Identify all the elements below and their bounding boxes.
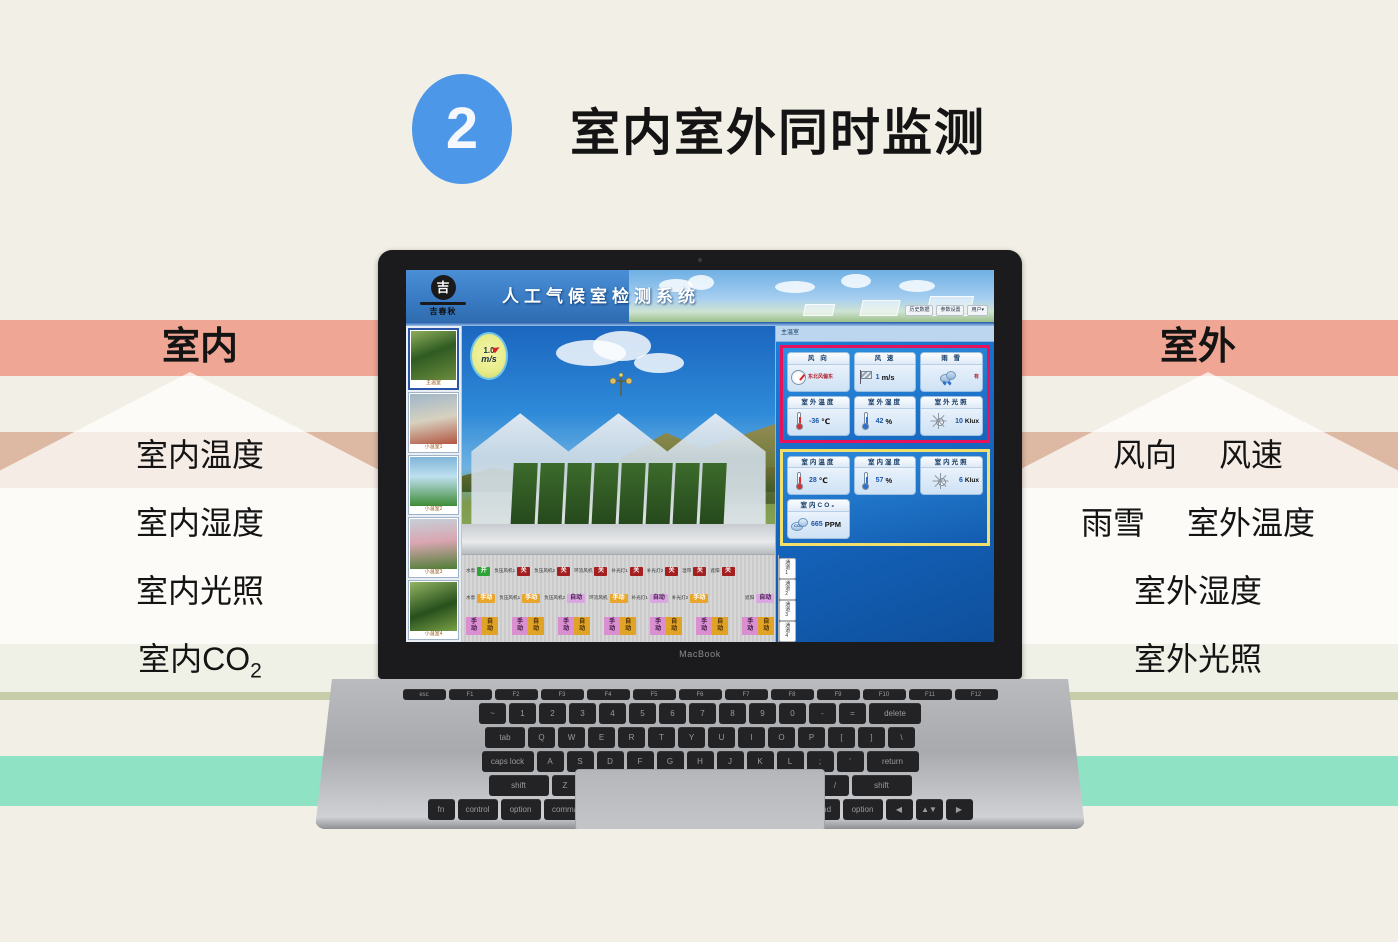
- key-e[interactable]: E: [588, 727, 615, 748]
- key-f4[interactable]: F4: [587, 689, 630, 700]
- key-option[interactable]: option: [843, 799, 883, 820]
- manual-option[interactable]: 手动: [696, 617, 712, 635]
- card-wind-speed[interactable]: 风 速 1 m/s: [854, 352, 917, 392]
- control-label: 负压风机1: [494, 569, 515, 574]
- key-f3[interactable]: F3: [541, 689, 584, 700]
- key--[interactable]: ▲▼: [916, 799, 943, 820]
- outdoor-item-label: 室外湿度: [1134, 573, 1262, 609]
- control-label: 补光灯1: [632, 596, 648, 601]
- manual-option[interactable]: 手动: [558, 617, 574, 635]
- manual-option[interactable]: 手动: [650, 617, 666, 635]
- greenhouse-scene-illustration: 1.0 m/s: [462, 326, 775, 554]
- card-title: 室内光照: [921, 457, 982, 469]
- key--[interactable]: ': [837, 751, 864, 772]
- key-f5[interactable]: F5: [633, 689, 676, 700]
- weather-vane-icon: [606, 372, 636, 398]
- control-exhaust-fan-2[interactable]: 负压风机2 关: [534, 567, 570, 576]
- control-label: 水泵: [466, 569, 475, 574]
- auto-option[interactable]: 自动: [482, 617, 498, 635]
- key--[interactable]: [: [828, 727, 855, 748]
- control-label: 环流风机: [574, 569, 592, 574]
- indoor-item-label: 室内CO: [138, 641, 250, 677]
- mode-chip[interactable]: 手动: [522, 594, 540, 603]
- mode-exhaust-fan-2[interactable]: 负压风机2 自动: [544, 594, 585, 603]
- auto-option[interactable]: 自动: [758, 617, 774, 635]
- manual-option[interactable]: 手动: [466, 617, 482, 635]
- control-shading[interactable]: 遮阳 关: [710, 567, 734, 576]
- auto-option[interactable]: 自动: [666, 617, 682, 635]
- thumbnail-label: 小温室2: [410, 506, 457, 513]
- logo-brand-name: 吉春秋: [416, 306, 470, 317]
- mode-grow-light-1[interactable]: 补光灯1 自动: [632, 594, 668, 603]
- outdoor-item-light: 室外光照: [998, 634, 1398, 680]
- mode-chip[interactable]: 手动: [610, 594, 628, 603]
- mode-chip[interactable]: 手动: [477, 594, 495, 603]
- card-indoor-humidity[interactable]: 室内湿度 57 %: [854, 456, 917, 496]
- key-f10[interactable]: F10: [863, 689, 906, 700]
- outdoor-sensor-group: 风 向 东北风偏东 风 速: [780, 345, 990, 443]
- card-title: 室外湿度: [855, 397, 916, 409]
- card-value: 6: [959, 477, 963, 484]
- indoor-item-label: 室内温度: [136, 437, 264, 473]
- card-value: 57: [876, 477, 884, 484]
- control-state-chip[interactable]: 关: [594, 567, 607, 576]
- channel-buttons: 通道1 通道2 通道3 通道4: [778, 555, 796, 642]
- key-delete[interactable]: delete: [869, 703, 921, 724]
- manual-auto-toggle[interactable]: 手动 自动: [558, 617, 590, 635]
- control-rows: 水泵 开 负压风机1 关 负压风机2 关: [462, 555, 778, 642]
- card-indoor-light[interactable]: 室内光照 6 Klux: [920, 456, 983, 496]
- indoor-item-label: 室内光照: [136, 573, 264, 609]
- control-label: 湿帘: [682, 569, 691, 574]
- card-outdoor-temperature[interactable]: 室外温度 -36 ℃: [787, 396, 850, 436]
- channel-4-button[interactable]: 通道4: [779, 621, 796, 642]
- co2-cloud-icon: CO₂: [791, 518, 809, 531]
- logo-seal-icon: 吉: [431, 275, 456, 300]
- manual-option[interactable]: 手动: [742, 617, 758, 635]
- indoor-item-co2-subscript: 2: [250, 659, 262, 682]
- key-f8[interactable]: F8: [771, 689, 814, 700]
- channel-1-button[interactable]: 通道1: [779, 558, 796, 579]
- card-title: 室内湿度: [855, 457, 916, 469]
- nav-history-data-button[interactable]: 历史数据: [905, 305, 933, 317]
- control-row-pairs: 手动 自动 手动 自动 手动 自动: [466, 615, 774, 637]
- key-9[interactable]: 9: [749, 703, 776, 724]
- manual-auto-toggle[interactable]: 手动 自动: [466, 617, 498, 635]
- card-title: 室内CO₂: [788, 500, 849, 512]
- control-label: 水泵: [466, 596, 475, 601]
- center-column: 1.0 m/s 水泵 开: [462, 326, 776, 642]
- auto-option[interactable]: 自动: [620, 617, 636, 635]
- card-unit: PPM: [825, 520, 841, 529]
- indoor-heading: 室内: [0, 318, 400, 376]
- indoor-item-light: 室内光照: [0, 566, 400, 612]
- key-option[interactable]: option: [501, 799, 541, 820]
- key-return[interactable]: return: [867, 751, 919, 772]
- key--[interactable]: -: [809, 703, 836, 724]
- key-2[interactable]: 2: [539, 703, 566, 724]
- mode-chip[interactable]: 自动: [756, 594, 774, 603]
- card-title: 室外光照: [921, 397, 982, 409]
- key-w[interactable]: W: [558, 727, 585, 748]
- key-fn[interactable]: fn: [428, 799, 455, 820]
- key--[interactable]: =: [839, 703, 866, 724]
- nav-settings-button[interactable]: 参数设置: [936, 305, 964, 317]
- mode-exhaust-fan-1[interactable]: 负压风机1 手动: [499, 594, 540, 603]
- manual-option[interactable]: 手动: [604, 617, 620, 635]
- card-indoor-temperature[interactable]: 室内温度 28 ℃: [787, 456, 850, 496]
- compass-needle-icon: [492, 345, 501, 354]
- greenhouse-thumbnail-sidebar: 主温室 小温室1 小温室2 小温室3: [406, 326, 462, 642]
- card-value: 1: [876, 374, 880, 381]
- card-wind-direction[interactable]: 风 向 东北风偏东: [787, 352, 850, 392]
- manual-option[interactable]: 手动: [512, 617, 528, 635]
- control-row-mode: 水泵 手动 负压风机1 手动 负压风机2 自动: [466, 587, 774, 609]
- auto-option[interactable]: 自动: [574, 617, 590, 635]
- logo-divider: [420, 302, 466, 305]
- control-pump[interactable]: 水泵 开: [466, 567, 490, 576]
- mode-circulation-fan[interactable]: 环流风机 手动: [589, 594, 627, 603]
- page-title: 室内室外同时监测: [570, 93, 986, 165]
- control-label: 负压风机1: [499, 596, 520, 601]
- key-esc[interactable]: esc: [403, 689, 446, 700]
- outdoor-item-wind-speed: 风速: [1219, 430, 1283, 476]
- indoor-item-temperature: 室内温度: [0, 430, 400, 476]
- key--[interactable]: \: [888, 727, 915, 748]
- control-grow-light-2[interactable]: 补光灯2 关: [647, 567, 678, 576]
- keyboard-row-q: tabQWERTYUIOP[]\: [374, 727, 1026, 748]
- card-value: 665: [811, 521, 823, 528]
- key-t[interactable]: T: [648, 727, 675, 748]
- mode-grow-light-2[interactable]: 补光灯2 手动: [672, 594, 708, 603]
- outdoor-column: 室外 风向 风速 雨雪 室外温度 室外湿度 室外光照: [998, 318, 1398, 702]
- thermometer-blue-icon: [858, 472, 874, 490]
- key-f1[interactable]: F1: [449, 689, 492, 700]
- wind-compass-widget: 1.0 m/s: [470, 332, 508, 380]
- card-unit: %: [885, 417, 892, 426]
- sidebar-item-greenhouse-1[interactable]: 小温室1: [408, 392, 459, 452]
- key-u[interactable]: U: [708, 727, 735, 748]
- control-grow-light-1[interactable]: 补光灯1 关: [611, 567, 642, 576]
- control-state-chip[interactable]: 关: [722, 567, 735, 576]
- channel-2-button[interactable]: 通道2: [779, 579, 796, 600]
- card-value: 28: [809, 477, 817, 484]
- control-state-chip[interactable]: 关: [517, 567, 530, 576]
- auto-option[interactable]: 自动: [528, 617, 544, 635]
- key--[interactable]: ~: [479, 703, 506, 724]
- control-state-chip[interactable]: 关: [693, 567, 706, 576]
- greenhouse-thumbnail-image: [410, 582, 457, 631]
- card-unit: Klux: [965, 477, 979, 484]
- macbook-brand-label: MacBook: [396, 649, 1004, 659]
- keyboard-row-function: escF1F2F3F4F5F6F7F8F9F10F11F12: [374, 689, 1026, 700]
- control-label: 遮阳: [710, 569, 719, 574]
- mode-pump[interactable]: 水泵 手动: [466, 594, 495, 603]
- app-header: 吉 吉春秋 人工气候室检测系统 历史数据 参数设置 用户▾: [406, 270, 994, 322]
- app-logo: 吉 吉春秋: [416, 275, 470, 317]
- greenhouse-floor: [462, 524, 775, 554]
- indoor-item-humidity: 室内湿度: [0, 498, 400, 544]
- step-number: 2: [446, 100, 478, 158]
- key--[interactable]: /: [822, 775, 849, 796]
- thermometer-red-icon: [791, 472, 807, 490]
- page-header: 2 室内室外同时监测: [0, 64, 1398, 194]
- card-outdoor-light[interactable]: 室外光照 10 Klux: [920, 396, 983, 436]
- mode-chip[interactable]: 自动: [650, 594, 668, 603]
- rain-cloud-icon: [940, 371, 957, 384]
- control-label: 遮阳: [745, 596, 754, 601]
- key--[interactable]: ◀: [886, 799, 913, 820]
- laptop-mockup: 吉 吉春秋 人工气候室检测系统 历史数据 参数设置 用户▾: [315, 250, 1085, 829]
- thumbnail-label: 主温室: [411, 380, 456, 387]
- greenhouse-thumbnail-image: [410, 457, 457, 506]
- thumbnail-label: 小温室4: [410, 631, 457, 638]
- key--[interactable]: ]: [858, 727, 885, 748]
- sidebar-item-main-greenhouse[interactable]: 主温室: [408, 328, 459, 390]
- app-title: 人工气候室检测系统: [502, 282, 700, 307]
- manual-auto-toggle[interactable]: 手动 自动: [512, 617, 544, 635]
- card-text: 有: [974, 374, 979, 380]
- sidebar-item-greenhouse-2[interactable]: 小温室2: [408, 455, 459, 515]
- auto-option[interactable]: 自动: [712, 617, 728, 635]
- card-outdoor-humidity[interactable]: 室外湿度 42 %: [854, 396, 917, 436]
- thumbnail-label: 小温室3: [410, 569, 457, 576]
- app-nav-buttons: 历史数据 参数设置 用户▾: [905, 305, 988, 317]
- key-f2[interactable]: F2: [495, 689, 538, 700]
- outdoor-item-rain-snow: 雨雪: [1081, 498, 1145, 544]
- card-unit: ℃: [821, 417, 830, 426]
- outdoor-item-wind-direction: 风向: [1113, 430, 1177, 476]
- key-f11[interactable]: F11: [909, 689, 952, 700]
- control-label: 负压风机2: [534, 569, 555, 574]
- key-f9[interactable]: F9: [817, 689, 860, 700]
- key-caps-lock[interactable]: caps lock: [482, 751, 534, 772]
- thermometer-blue-icon: [858, 412, 874, 430]
- key-1[interactable]: 1: [509, 703, 536, 724]
- nav-user-menu-button[interactable]: 用户▾: [967, 305, 988, 317]
- key-3[interactable]: 3: [569, 703, 596, 724]
- manual-auto-toggle[interactable]: 手动 自动: [604, 617, 636, 635]
- compass-unit: m/s: [481, 355, 497, 365]
- control-state-chip[interactable]: 关: [665, 567, 678, 576]
- outdoor-row-wind: 风向 风速: [998, 430, 1398, 476]
- app-body: 主温室 小温室1 小温室2 小温室3: [406, 326, 994, 642]
- card-unit: %: [885, 476, 892, 485]
- greenhouse-thumbnail-image: [411, 331, 456, 380]
- card-title: 风 速: [855, 353, 916, 365]
- control-label: 负压风机2: [544, 596, 565, 601]
- key-f12[interactable]: F12: [955, 689, 998, 700]
- thermometer-red-icon: [791, 412, 807, 430]
- trackpad[interactable]: [575, 769, 825, 831]
- sidebar-item-greenhouse-4[interactable]: 小温室4: [408, 580, 459, 640]
- keyboard-row-numbers: ~1234567890-=delete: [374, 703, 1026, 724]
- key-tab[interactable]: tab: [485, 727, 525, 748]
- card-value: 42: [876, 418, 884, 425]
- control-exhaust-fan-1[interactable]: 负压风机1 关: [494, 567, 530, 576]
- key-4[interactable]: 4: [599, 703, 626, 724]
- control-state-chip[interactable]: 开: [477, 567, 490, 576]
- step-badge: 2: [412, 74, 512, 184]
- device-control-panel: 水泵 开 负压风机1 关 负压风机2 关: [462, 554, 775, 642]
- sidebar-item-greenhouse-3[interactable]: 小温室3: [408, 517, 459, 577]
- key--[interactable]: ▶: [946, 799, 973, 820]
- card-text: 东北风偏东: [808, 374, 833, 380]
- crop-beds: [512, 463, 725, 531]
- greenhouse-silhouette: [860, 300, 901, 316]
- control-label: 补光灯2: [672, 596, 688, 601]
- control-label: 补光灯2: [647, 569, 663, 574]
- indoor-column: 室内 室内温度 室内湿度 室内光照 室内CO2: [0, 318, 400, 705]
- mode-chip[interactable]: 自动: [567, 594, 585, 603]
- key-y[interactable]: Y: [678, 727, 705, 748]
- key-6[interactable]: 6: [659, 703, 686, 724]
- indoor-item-label: 室内湿度: [136, 505, 264, 541]
- card-unit: m/s: [882, 373, 895, 382]
- control-state-chip[interactable]: 关: [557, 567, 570, 576]
- laptop-base: escF1F2F3F4F5F6F7F8F9F10F11F12 ~12345678…: [315, 679, 1085, 829]
- key-f7[interactable]: F7: [725, 689, 768, 700]
- outdoor-list: 风向 风速 雨雪 室外温度 室外湿度 室外光照: [998, 430, 1398, 680]
- mode-shading[interactable]: 遮阳 自动: [745, 594, 774, 603]
- greenhouse-thumbnail-image: [410, 519, 457, 568]
- card-title: 风 向: [788, 353, 849, 365]
- key-a[interactable]: A: [537, 751, 564, 772]
- outdoor-item-humidity: 室外湿度: [998, 566, 1398, 612]
- key-control[interactable]: control: [458, 799, 498, 820]
- indoor-item-co2: 室内CO2: [0, 634, 400, 683]
- control-circulation-fan[interactable]: 环流风机 关: [574, 567, 607, 576]
- card-rain-snow[interactable]: 雨 雪 有: [920, 352, 983, 392]
- sun-icon: [933, 473, 949, 489]
- key-7[interactable]: 7: [689, 703, 716, 724]
- greenhouse-silhouette: [802, 304, 835, 316]
- card-indoor-co2[interactable]: 室内CO₂ CO₂ 665 PPM: [787, 499, 850, 539]
- control-label: 补光灯1: [611, 569, 627, 574]
- manual-auto-toggle[interactable]: 手动 自动: [742, 617, 774, 635]
- panel-header-label: 主温室: [776, 326, 994, 342]
- card-title: 雨 雪: [921, 353, 982, 365]
- key-5[interactable]: 5: [629, 703, 656, 724]
- control-wet-curtain[interactable]: 湿帘 关: [682, 567, 706, 576]
- key-i[interactable]: I: [738, 727, 765, 748]
- laptop-screen: 吉 吉春秋 人工气候室检测系统 历史数据 参数设置 用户▾: [406, 270, 994, 642]
- laptop-lid: 吉 吉春秋 人工气候室检测系统 历史数据 参数设置 用户▾: [378, 250, 1022, 679]
- card-unit: Klux: [965, 418, 979, 425]
- indoor-group-spacer: [854, 499, 983, 539]
- mode-chip[interactable]: 手动: [690, 594, 708, 603]
- control-state-chip[interactable]: 关: [630, 567, 643, 576]
- key-q[interactable]: Q: [528, 727, 555, 748]
- outdoor-item-label: 室外光照: [1134, 641, 1262, 677]
- thumbnail-label: 小温室1: [410, 444, 457, 451]
- card-title: 室外温度: [788, 397, 849, 409]
- indoor-list: 室内温度 室内湿度 室内光照 室内CO2: [0, 430, 400, 683]
- control-row-onoff: 水泵 开 负压风机1 关 负压风机2 关: [466, 560, 774, 582]
- sensor-data-panel: 主温室 风 向 东北风偏东 风 速: [776, 326, 994, 642]
- manual-auto-toggle[interactable]: 手动 自动: [650, 617, 682, 635]
- channel-3-button[interactable]: 通道3: [779, 600, 796, 621]
- outdoor-row-rain-temp: 雨雪 室外温度: [998, 498, 1398, 544]
- outdoor-item-temperature: 室外温度: [1187, 498, 1315, 544]
- card-title: 室内温度: [788, 457, 849, 469]
- card-value: 10: [955, 418, 963, 425]
- key-shift[interactable]: shift: [489, 775, 549, 796]
- key-o[interactable]: O: [768, 727, 795, 748]
- indoor-sensor-group: 室内温度 28 ℃ 室内湿度: [780, 449, 990, 547]
- manual-auto-toggle[interactable]: 手动 自动: [696, 617, 728, 635]
- webcam-icon: [698, 258, 702, 262]
- key-shift[interactable]: shift: [852, 775, 912, 796]
- wind-flag-icon: [858, 369, 874, 385]
- card-value: -36: [809, 418, 819, 425]
- key-r[interactable]: R: [618, 727, 645, 748]
- control-label: 环流风机: [589, 596, 607, 601]
- card-unit: ℃: [819, 476, 828, 485]
- key-p[interactable]: P: [798, 727, 825, 748]
- outdoor-heading: 室外: [998, 318, 1398, 376]
- compass-dial-icon: [791, 370, 806, 385]
- key-f6[interactable]: F6: [679, 689, 722, 700]
- key-0[interactable]: 0: [779, 703, 806, 724]
- sun-icon: [931, 413, 947, 429]
- key-8[interactable]: 8: [719, 703, 746, 724]
- greenhouse-thumbnail-image: [410, 394, 457, 443]
